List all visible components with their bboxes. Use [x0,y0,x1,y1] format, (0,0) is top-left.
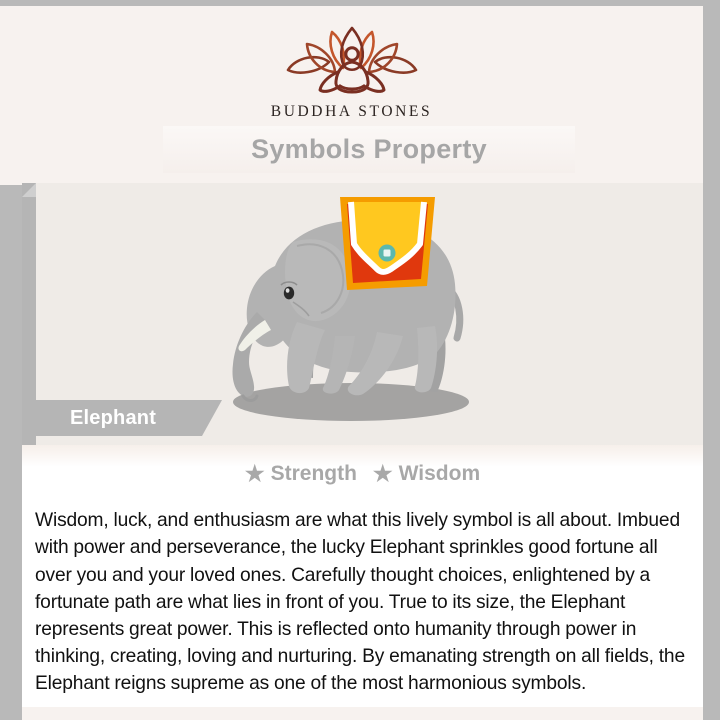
page-title-banner: Symbols Property [163,126,575,173]
elephant-illustration [201,180,491,430]
star-icon: ★ [245,463,265,485]
brand-logo-group: BUDDHA STONES [0,24,703,121]
symbol-name-tab: Elephant [22,400,222,436]
attribute-label: Wisdom [399,462,480,486]
description-card: ★ Strength ★ Wisdom Wisdom, luck, and en… [22,445,703,707]
brand-name: BUDDHA STONES [271,103,432,121]
page-title: Symbols Property [251,134,487,165]
attribute-strength: ★ Strength [245,462,357,486]
bottom-cream-strip [22,707,703,720]
symbol-property-poster: BUDDHA STONES Symbols Property [0,0,720,720]
symbol-description: Wisdom, luck, and enthusiasm are what th… [35,507,691,697]
right-border-strip [703,0,720,720]
star-icon: ★ [373,463,393,485]
attribute-label: Strength [271,462,357,486]
lotus-meditation-icon [274,24,430,98]
attribute-wisdom: ★ Wisdom [373,462,480,486]
symbol-name: Elephant [70,407,156,430]
attribute-list: ★ Strength ★ Wisdom [22,462,703,486]
